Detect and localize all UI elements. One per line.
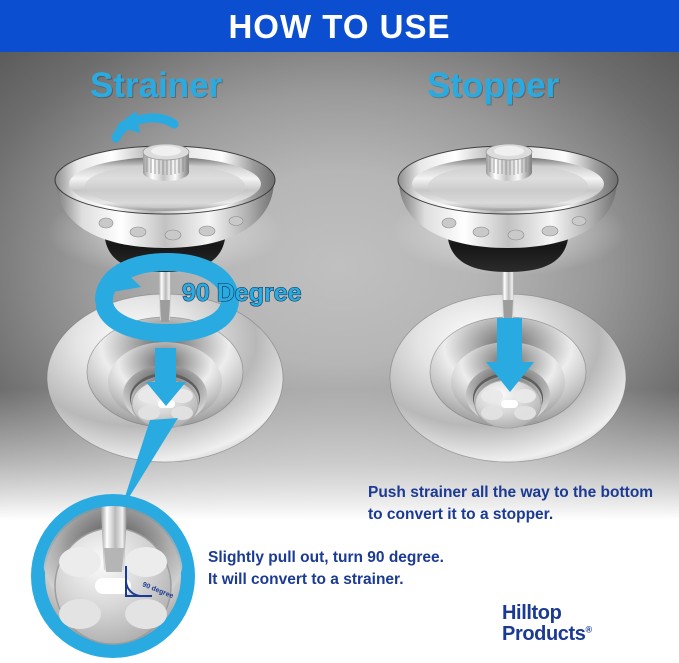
brand-line-2: Products® — [502, 624, 592, 645]
infographic-poster: HOW TO USE Strainer Stopper — [0, 0, 679, 663]
rotation-degree-label: 90 Degree — [182, 279, 302, 307]
right-panel-artwork — [390, 144, 626, 462]
instruction-text-stopper: Push strainer all the way to the bottom … — [368, 482, 653, 527]
brand-logo: Hilltop Products® — [502, 603, 592, 645]
strainer-basket-right — [390, 144, 626, 322]
brand-line-2-text: Products — [502, 623, 585, 645]
instruction-text-strainer: Slightly pull out, turn 90 degree. It wi… — [208, 547, 444, 592]
knurled-knob-right — [486, 144, 532, 181]
knurled-knob-left — [143, 144, 189, 181]
magnifier-callout: 90 degree — [37, 492, 189, 652]
curved-arrow-icon-left — [116, 111, 174, 138]
brand-line-1: Hilltop — [502, 603, 592, 624]
registered-mark: ® — [585, 624, 591, 634]
